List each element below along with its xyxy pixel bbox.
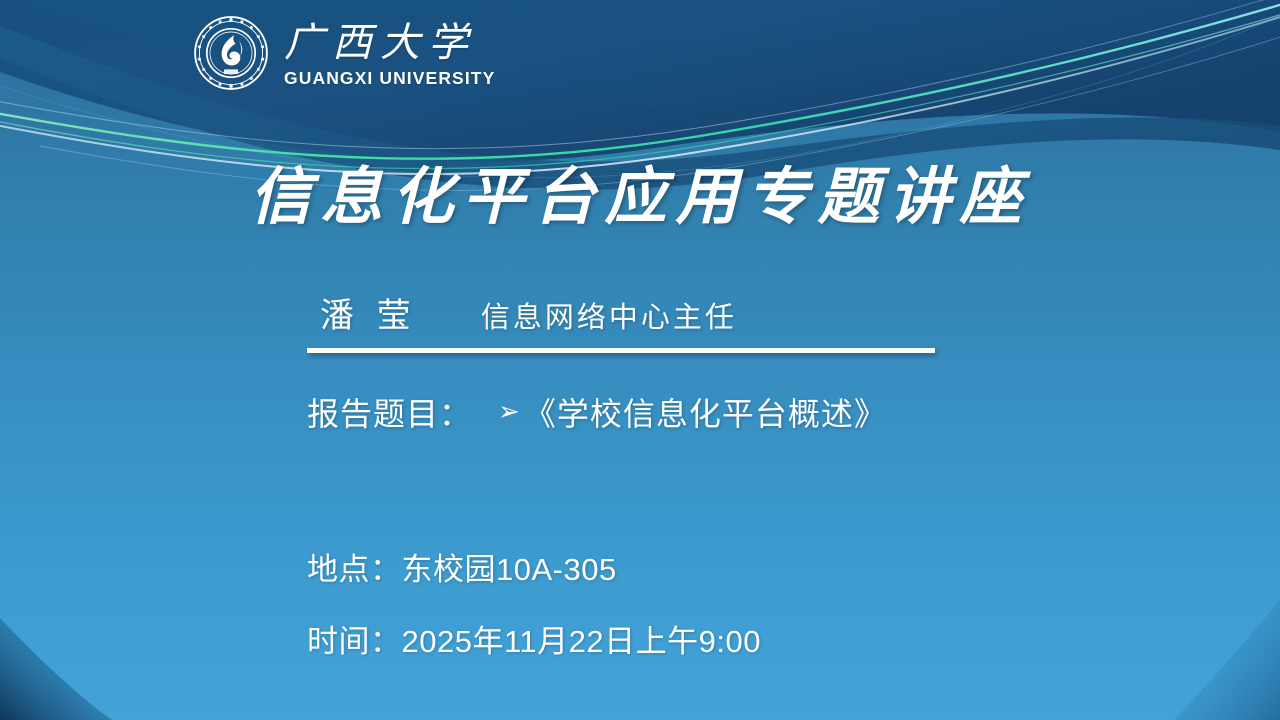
university-name-en: GUANGXI UNIVERSITY: [284, 70, 495, 88]
divider-line: [307, 348, 935, 353]
speaker-role: 信息网络中心主任: [481, 294, 737, 336]
university-wordmark: 广西大学 GUANGXI UNIVERSITY: [284, 19, 495, 88]
university-branding: 广西大学 GUANGXI UNIVERSITY: [192, 14, 495, 92]
slide-title: 信息化平台应用专题讲座: [0, 146, 1280, 236]
speaker-info: 潘 莹 信息网络中心主任: [320, 288, 737, 337]
report-topic: 报告题目： ➢ 《学校信息化平台概述》: [307, 389, 887, 435]
event-time: 时间：2025年11月22日上午9:00: [307, 616, 761, 661]
university-name-cn: 广西大学: [284, 23, 495, 63]
report-topic-value: 《学校信息化平台概述》: [524, 389, 887, 435]
guangxi-university-seal-icon: [192, 14, 270, 92]
presentation-slide: 广西大学 GUANGXI UNIVERSITY 信息化平台应用专题讲座 潘 莹 …: [0, 0, 1280, 720]
arrow-bullet-icon: ➢: [498, 399, 520, 425]
report-topic-label: 报告题目：: [307, 389, 472, 435]
event-location: 地点：东校园10A-305: [307, 544, 761, 589]
event-details: 地点：东校园10A-305 时间：2025年11月22日上午9:00: [307, 544, 761, 661]
speaker-name: 潘 莹: [320, 288, 417, 337]
